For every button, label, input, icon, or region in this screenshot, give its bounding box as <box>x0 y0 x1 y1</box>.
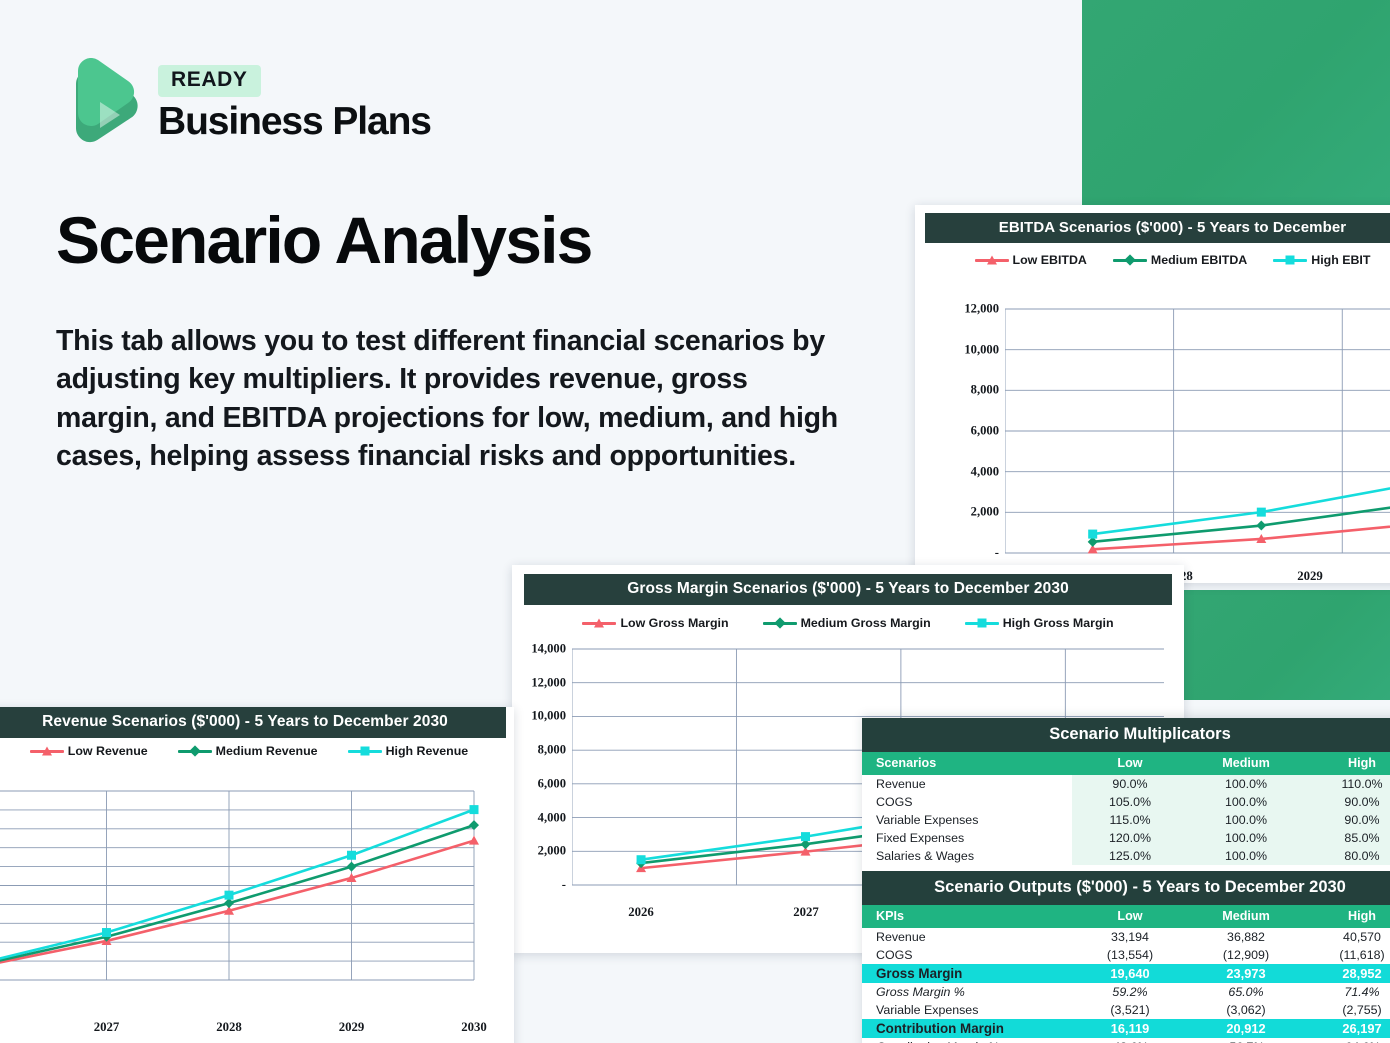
table-cell: 36,882 <box>1188 928 1304 946</box>
y-tick-label: 2,000 <box>538 844 566 859</box>
table-row: Fixed Expenses120.0%100.0%85.0% <box>862 829 1390 847</box>
y-tick-label: 2,000 <box>971 505 999 520</box>
table-cell: (12,909) <box>1188 946 1304 964</box>
table-cell: 120.0% <box>1072 829 1188 847</box>
x-tick-label: 2026 <box>628 905 654 920</box>
revenue-plot-svg <box>0 777 494 1014</box>
data-point-marker <box>801 832 810 841</box>
legend-label-low: Low Revenue <box>68 744 148 758</box>
ready-badge: READY <box>158 65 261 96</box>
table-cell: 80.0% <box>1304 847 1390 865</box>
table-cell: 28,952 <box>1304 964 1390 983</box>
outputs-banner: Scenario Outputs ($'000) - 5 Years to De… <box>862 871 1390 905</box>
revenue-plot-area: 20262027202820292030 <box>0 777 514 1043</box>
brand-text-block: READY Business Plans <box>158 65 431 142</box>
table-cell: (13,554) <box>1072 946 1188 964</box>
table-cell: Contribution Margin <box>862 1019 1072 1038</box>
table-row: Revenue33,19436,88240,570 <box>862 928 1390 946</box>
legend-swatch-low <box>30 750 64 753</box>
y-tick-label: 4,000 <box>538 810 566 825</box>
table-cell: 23,973 <box>1188 964 1304 983</box>
x-tick-label: 2030 <box>461 1020 487 1035</box>
table-cell: COGS <box>862 946 1072 964</box>
legend-item-high: High EBIT <box>1273 253 1370 267</box>
x-tick-label: 2027 <box>94 1020 120 1035</box>
series-line <box>0 841 474 966</box>
table-row: Variable Expenses115.0%100.0%90.0% <box>862 811 1390 829</box>
ebitda-chart-card: EBITDA Scenarios ($'000) - 5 Years to De… <box>915 205 1390 583</box>
table-row: Revenue90.0%100.0%110.0% <box>862 775 1390 793</box>
col-header-low: Low <box>1072 752 1188 775</box>
table-cell: COGS <box>862 793 1072 811</box>
legend-label-medium: Medium EBITDA <box>1151 253 1247 267</box>
data-point-marker <box>470 805 479 814</box>
data-point-marker <box>1256 521 1266 531</box>
gross-margin-y-axis-labels: 14,00012,00010,0008,0006,0004,0002,000- <box>512 643 572 953</box>
play-triangle-logo-icon <box>56 58 140 150</box>
legend-swatch-high <box>348 750 382 753</box>
table-cell: Salaries & Wages <box>862 847 1072 865</box>
table-cell: Revenue <box>862 928 1072 946</box>
legend-swatch-medium <box>1113 259 1147 262</box>
page-intro-text: This tab allows you to test different fi… <box>56 322 856 475</box>
table-row: Contribution Margin %48.6%56.7%64.6% <box>862 1038 1390 1043</box>
legend-item-high: High Gross Margin <box>965 616 1114 630</box>
scenario-multiplicators-table: Scenarios Low Medium High Revenue90.0%10… <box>862 752 1390 865</box>
y-tick-label: 12,000 <box>531 675 566 690</box>
legend-item-medium: Medium EBITDA <box>1113 253 1247 267</box>
table-cell: Gross Margin <box>862 964 1072 983</box>
series-line <box>1093 380 1390 534</box>
data-point-marker <box>225 891 234 900</box>
legend-item-low: Low Gross Margin <box>582 616 728 630</box>
scenario-outputs-table: KPIs Low Medium High Revenue33,19436,882… <box>862 905 1390 1043</box>
data-point-marker <box>637 855 646 864</box>
decorative-green-block-middle <box>1170 590 1390 700</box>
table-cell: 71.4% <box>1304 983 1390 1001</box>
legend-label-high: High Revenue <box>386 744 469 758</box>
table-cell: 110.0% <box>1304 775 1390 793</box>
y-tick-label: 8,000 <box>538 743 566 758</box>
table-cell: 100.0% <box>1188 811 1304 829</box>
y-tick-label: 14,000 <box>531 642 566 657</box>
y-tick-label: 12,000 <box>964 302 999 317</box>
table-row: Gross Margin19,64023,97328,952 <box>862 964 1390 983</box>
series-line <box>0 810 474 963</box>
multiplicators-banner: Scenario Multiplicators <box>862 718 1390 752</box>
table-header-row: Scenarios Low Medium High <box>862 752 1390 775</box>
legend-swatch-high <box>1273 259 1307 262</box>
triangle-marker-icon <box>594 619 604 628</box>
triangle-marker-icon <box>987 256 997 265</box>
table-cell: 100.0% <box>1188 847 1304 865</box>
revenue-legend: Low Revenue Medium Revenue High Revenue <box>0 738 514 762</box>
table-cell: 40,570 <box>1304 928 1390 946</box>
decorative-green-block-top <box>1082 0 1390 205</box>
table-cell: Variable Expenses <box>862 811 1072 829</box>
table-cell: Fixed Expenses <box>862 829 1072 847</box>
table-cell: 90.0% <box>1304 793 1390 811</box>
table-header-row: KPIs Low Medium High <box>862 905 1390 928</box>
series-line <box>0 825 474 964</box>
table-cell: 64.6% <box>1304 1038 1390 1043</box>
diamond-marker-icon <box>189 745 200 756</box>
legend-swatch-low <box>582 622 616 625</box>
legend-item-low: Low EBITDA <box>975 253 1087 267</box>
legend-label-low: Low Gross Margin <box>620 616 728 630</box>
table-cell: 100.0% <box>1188 793 1304 811</box>
table-row: COGS(13,554)(12,909)(11,618) <box>862 946 1390 964</box>
table-cell: 100.0% <box>1188 775 1304 793</box>
brand-name: Business Plans <box>158 102 431 143</box>
slide-canvas: READY Business Plans Scenario Analysis T… <box>0 0 1390 1043</box>
table-cell: (3,062) <box>1188 1001 1304 1019</box>
table-cell: Variable Expenses <box>862 1001 1072 1019</box>
legend-swatch-low <box>975 259 1009 262</box>
col-header-scenarios: Scenarios <box>862 752 1072 775</box>
gross-margin-legend: Low Gross Margin Medium Gross Margin Hig… <box>512 605 1184 634</box>
table-cell: 90.0% <box>1304 811 1390 829</box>
legend-swatch-medium <box>763 622 797 625</box>
data-point-marker <box>469 836 479 845</box>
legend-item-high: High Revenue <box>348 744 469 758</box>
x-tick-label: 2027 <box>793 905 819 920</box>
y-tick-label: 10,000 <box>531 709 566 724</box>
ebitda-plot-svg <box>1005 301 1390 563</box>
triangle-marker-icon <box>42 747 52 756</box>
table-cell: 65.0% <box>1188 983 1304 1001</box>
table-cell: Gross Margin % <box>862 983 1072 1001</box>
table-cell: (3,521) <box>1072 1001 1188 1019</box>
table-cell: 125.0% <box>1072 847 1188 865</box>
x-tick-label: 2028 <box>216 1020 242 1035</box>
x-tick-label: 2029 <box>1297 569 1323 583</box>
x-tick-label: 2029 <box>339 1020 365 1035</box>
col-header-high: High <box>1304 905 1390 928</box>
y-tick-label: 10,000 <box>964 342 999 357</box>
diamond-marker-icon <box>1124 254 1135 265</box>
multiplicators-body: Revenue90.0%100.0%110.0%COGS105.0%100.0%… <box>862 775 1390 865</box>
legend-item-low: Low Revenue <box>30 744 148 758</box>
diamond-marker-icon <box>774 617 785 628</box>
table-cell: 20,912 <box>1188 1019 1304 1038</box>
series-line <box>1093 421 1390 542</box>
table-cell: (11,618) <box>1304 946 1390 964</box>
table-cell: 19,640 <box>1072 964 1188 983</box>
ebitda-legend: Low EBITDA Medium EBITDA High EBIT <box>915 243 1390 271</box>
ebitda-y-axis-labels: 12,00010,0008,0006,0004,0002,000- <box>915 301 1005 583</box>
legend-label-high: High Gross Margin <box>1003 616 1114 630</box>
legend-label-medium: Medium Revenue <box>216 744 318 758</box>
table-row: Salaries & Wages125.0%100.0%80.0% <box>862 847 1390 865</box>
data-point-marker <box>102 928 111 937</box>
y-tick-label: 8,000 <box>971 383 999 398</box>
square-marker-icon <box>360 747 369 756</box>
ebitda-plot-area: 12,00010,0008,0006,0004,0002,000- 202820… <box>915 301 1390 583</box>
legend-item-medium: Medium Gross Margin <box>763 616 931 630</box>
col-header-medium: Medium <box>1188 905 1304 928</box>
table-cell: 33,194 <box>1072 928 1188 946</box>
table-row: COGS105.0%100.0%90.0% <box>862 793 1390 811</box>
legend-label-medium: Medium Gross Margin <box>801 616 931 630</box>
y-tick-label: 6,000 <box>971 424 999 439</box>
table-row: Variable Expenses(3,521)(3,062)(2,755) <box>862 1001 1390 1019</box>
legend-swatch-medium <box>178 750 212 753</box>
table-cell: Revenue <box>862 775 1072 793</box>
scenario-tables-card: Scenario Multiplicators Scenarios Low Me… <box>862 718 1390 1043</box>
data-point-marker <box>347 862 357 872</box>
table-cell: 90.0% <box>1072 775 1188 793</box>
brand-lockup: READY Business Plans <box>56 58 431 150</box>
table-cell: 59.2% <box>1072 983 1188 1001</box>
table-row: Gross Margin %59.2%65.0%71.4% <box>862 983 1390 1001</box>
table-cell: 48.6% <box>1072 1038 1188 1043</box>
table-cell: 85.0% <box>1304 829 1390 847</box>
col-header-kpis: KPIs <box>862 905 1072 928</box>
revenue-chart-card: Revenue Scenarios ($'000) - 5 Years to D… <box>0 707 514 1043</box>
data-point-marker <box>1088 530 1097 539</box>
table-cell: 100.0% <box>1188 829 1304 847</box>
legend-item-medium: Medium Revenue <box>178 744 318 758</box>
square-marker-icon <box>977 619 986 628</box>
table-cell: 16,119 <box>1072 1019 1188 1038</box>
data-point-marker <box>1257 508 1266 517</box>
table-cell: 26,197 <box>1304 1019 1390 1038</box>
gross-margin-chart-title: Gross Margin Scenarios ($'000) - 5 Years… <box>524 574 1172 605</box>
legend-swatch-high <box>965 622 999 625</box>
y-tick-label: 4,000 <box>971 464 999 479</box>
table-row: Contribution Margin16,11920,91226,197 <box>862 1019 1390 1038</box>
table-cell: (2,755) <box>1304 1001 1390 1019</box>
y-tick-label: - <box>562 878 566 893</box>
col-header-medium: Medium <box>1188 752 1304 775</box>
data-point-marker <box>347 851 356 860</box>
y-tick-label: - <box>995 546 999 561</box>
legend-label-low: Low EBITDA <box>1013 253 1087 267</box>
y-tick-label: 6,000 <box>538 776 566 791</box>
table-cell: 115.0% <box>1072 811 1188 829</box>
outputs-body: Revenue33,19436,88240,570COGS(13,554)(12… <box>862 928 1390 1043</box>
legend-label-high: High EBIT <box>1311 253 1370 267</box>
page-title: Scenario Analysis <box>56 206 592 275</box>
col-header-high: High <box>1304 752 1390 775</box>
col-header-low: Low <box>1072 905 1188 928</box>
table-cell: 56.7% <box>1188 1038 1304 1043</box>
revenue-chart-title: Revenue Scenarios ($'000) - 5 Years to D… <box>0 707 506 738</box>
table-cell: 105.0% <box>1072 793 1188 811</box>
table-cell: Contribution Margin % <box>862 1038 1072 1043</box>
ebitda-chart-title: EBITDA Scenarios ($'000) - 5 Years to De… <box>925 213 1390 243</box>
square-marker-icon <box>1286 256 1295 265</box>
